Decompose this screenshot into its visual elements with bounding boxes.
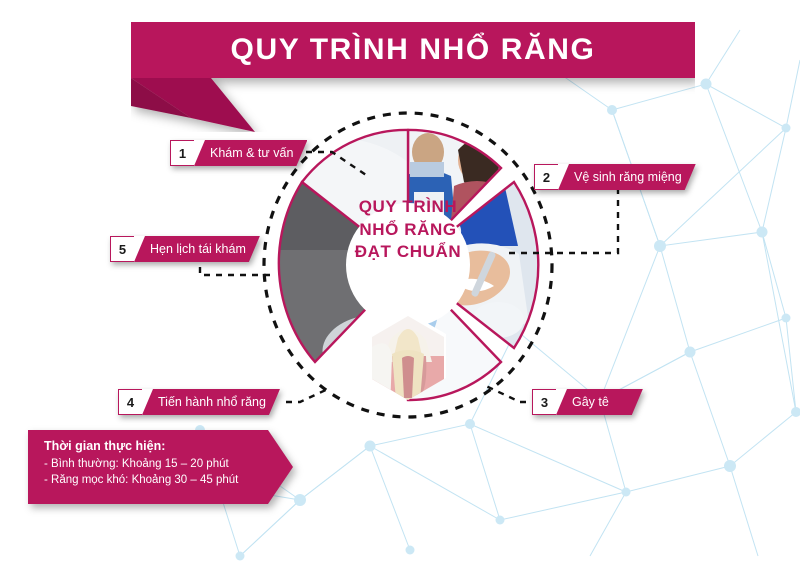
duration-note-heading: Thời gian thực hiện: <box>44 439 293 453</box>
title-ribbon: QUY TRÌNH NHỔ RĂNG <box>131 22 695 132</box>
duration-note-line-2: - Răng mọc khó: Khoảng 30 – 45 phút <box>44 474 293 486</box>
step-label-5[interactable]: 5 Hẹn lịch tái khám <box>110 236 260 262</box>
step-number-2: 2 <box>534 164 558 190</box>
step-number-1: 1 <box>170 140 194 166</box>
step-text-5: Hẹn lịch tái khám <box>134 236 260 262</box>
page-title: QUY TRÌNH NHỔ RĂNG <box>131 22 695 78</box>
infographic-canvas: QUY TRÌNH NHỔ RĂNG <box>0 0 800 564</box>
duration-note-line-1: - Bình thường: Khoảng 15 – 20 phút <box>44 458 293 470</box>
step-label-4[interactable]: 4 Tiến hành nhổ răng <box>118 389 280 415</box>
step-text-1: Khám & tư vấn <box>194 140 307 166</box>
step-label-3[interactable]: 3 Gây tê <box>532 389 643 415</box>
step-label-1[interactable]: 1 Khám & tư vấn <box>170 140 307 166</box>
step-label-2[interactable]: 2 Vệ sinh răng miệng <box>534 164 696 190</box>
step-text-3: Gây tê <box>556 389 643 415</box>
step-number-3: 3 <box>532 389 556 415</box>
duration-note: Thời gian thực hiện: - Bình thường: Khoả… <box>28 430 293 504</box>
step-text-4: Tiến hành nhổ răng <box>142 389 280 415</box>
step-number-5: 5 <box>110 236 134 262</box>
step-text-2: Vệ sinh răng miệng <box>558 164 696 190</box>
step-number-4: 4 <box>118 389 142 415</box>
